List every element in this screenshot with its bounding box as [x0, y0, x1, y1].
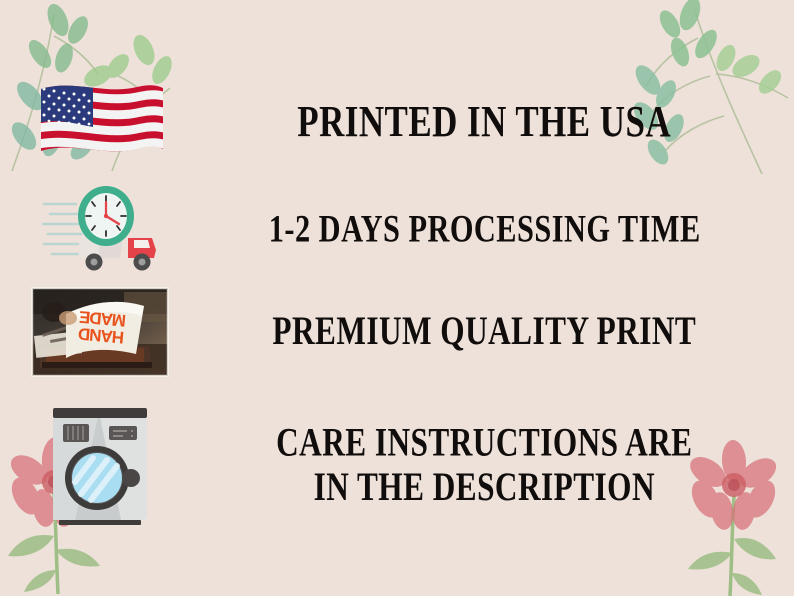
- feature-row-processing-time: 1-2 DAYS PROCESSING TIME: [0, 182, 794, 278]
- icon-cell: HAND MADE: [0, 288, 207, 376]
- svg-text:MADE: MADE: [78, 307, 126, 330]
- feature-text-care-instructions: CARE INSTRUCTIONS ARE IN THE DESCRIPTION: [276, 421, 692, 511]
- us-flag-icon: [37, 79, 167, 165]
- feature-text-printed-in-usa: PRINTED IN THE USA: [298, 97, 672, 147]
- icon-cell: [0, 79, 209, 165]
- washing-machine-icon: [47, 402, 153, 530]
- door-handle-icon: [122, 469, 140, 487]
- text-cell: PRINTED IN THE USA: [215, 101, 794, 144]
- info-graphic-canvas: PRINTED IN THE USA: [0, 0, 794, 596]
- icon-cell: [0, 402, 207, 530]
- text-cell: CARE INSTRUCTIONS ARE IN THE DESCRIPTION: [215, 428, 794, 504]
- display-panel-icon: [109, 426, 137, 440]
- fast-delivery-truck-clock-icon: [42, 184, 162, 276]
- text-cell: 1-2 DAYS PROCESSING TIME: [215, 212, 794, 249]
- feature-row-printed-in-usa: PRINTED IN THE USA: [0, 74, 794, 170]
- clock-icon: [78, 186, 134, 246]
- control-dial-icon: [63, 424, 89, 442]
- screen-printing-photo: HAND MADE: [32, 288, 168, 376]
- feature-text-processing-time: 1-2 DAYS PROCESSING TIME: [269, 208, 701, 252]
- icon-cell: [0, 184, 209, 276]
- text-cell: PREMIUM QUALITY PRINT: [215, 313, 794, 351]
- feature-text-premium-quality: PREMIUM QUALITY PRINT: [273, 310, 697, 355]
- feature-row-care-instructions: CARE INSTRUCTIONS ARE IN THE DESCRIPTION: [0, 396, 794, 536]
- feature-row-premium-quality: HAND MADE PREMIUM QUALITY PRINT: [0, 282, 794, 382]
